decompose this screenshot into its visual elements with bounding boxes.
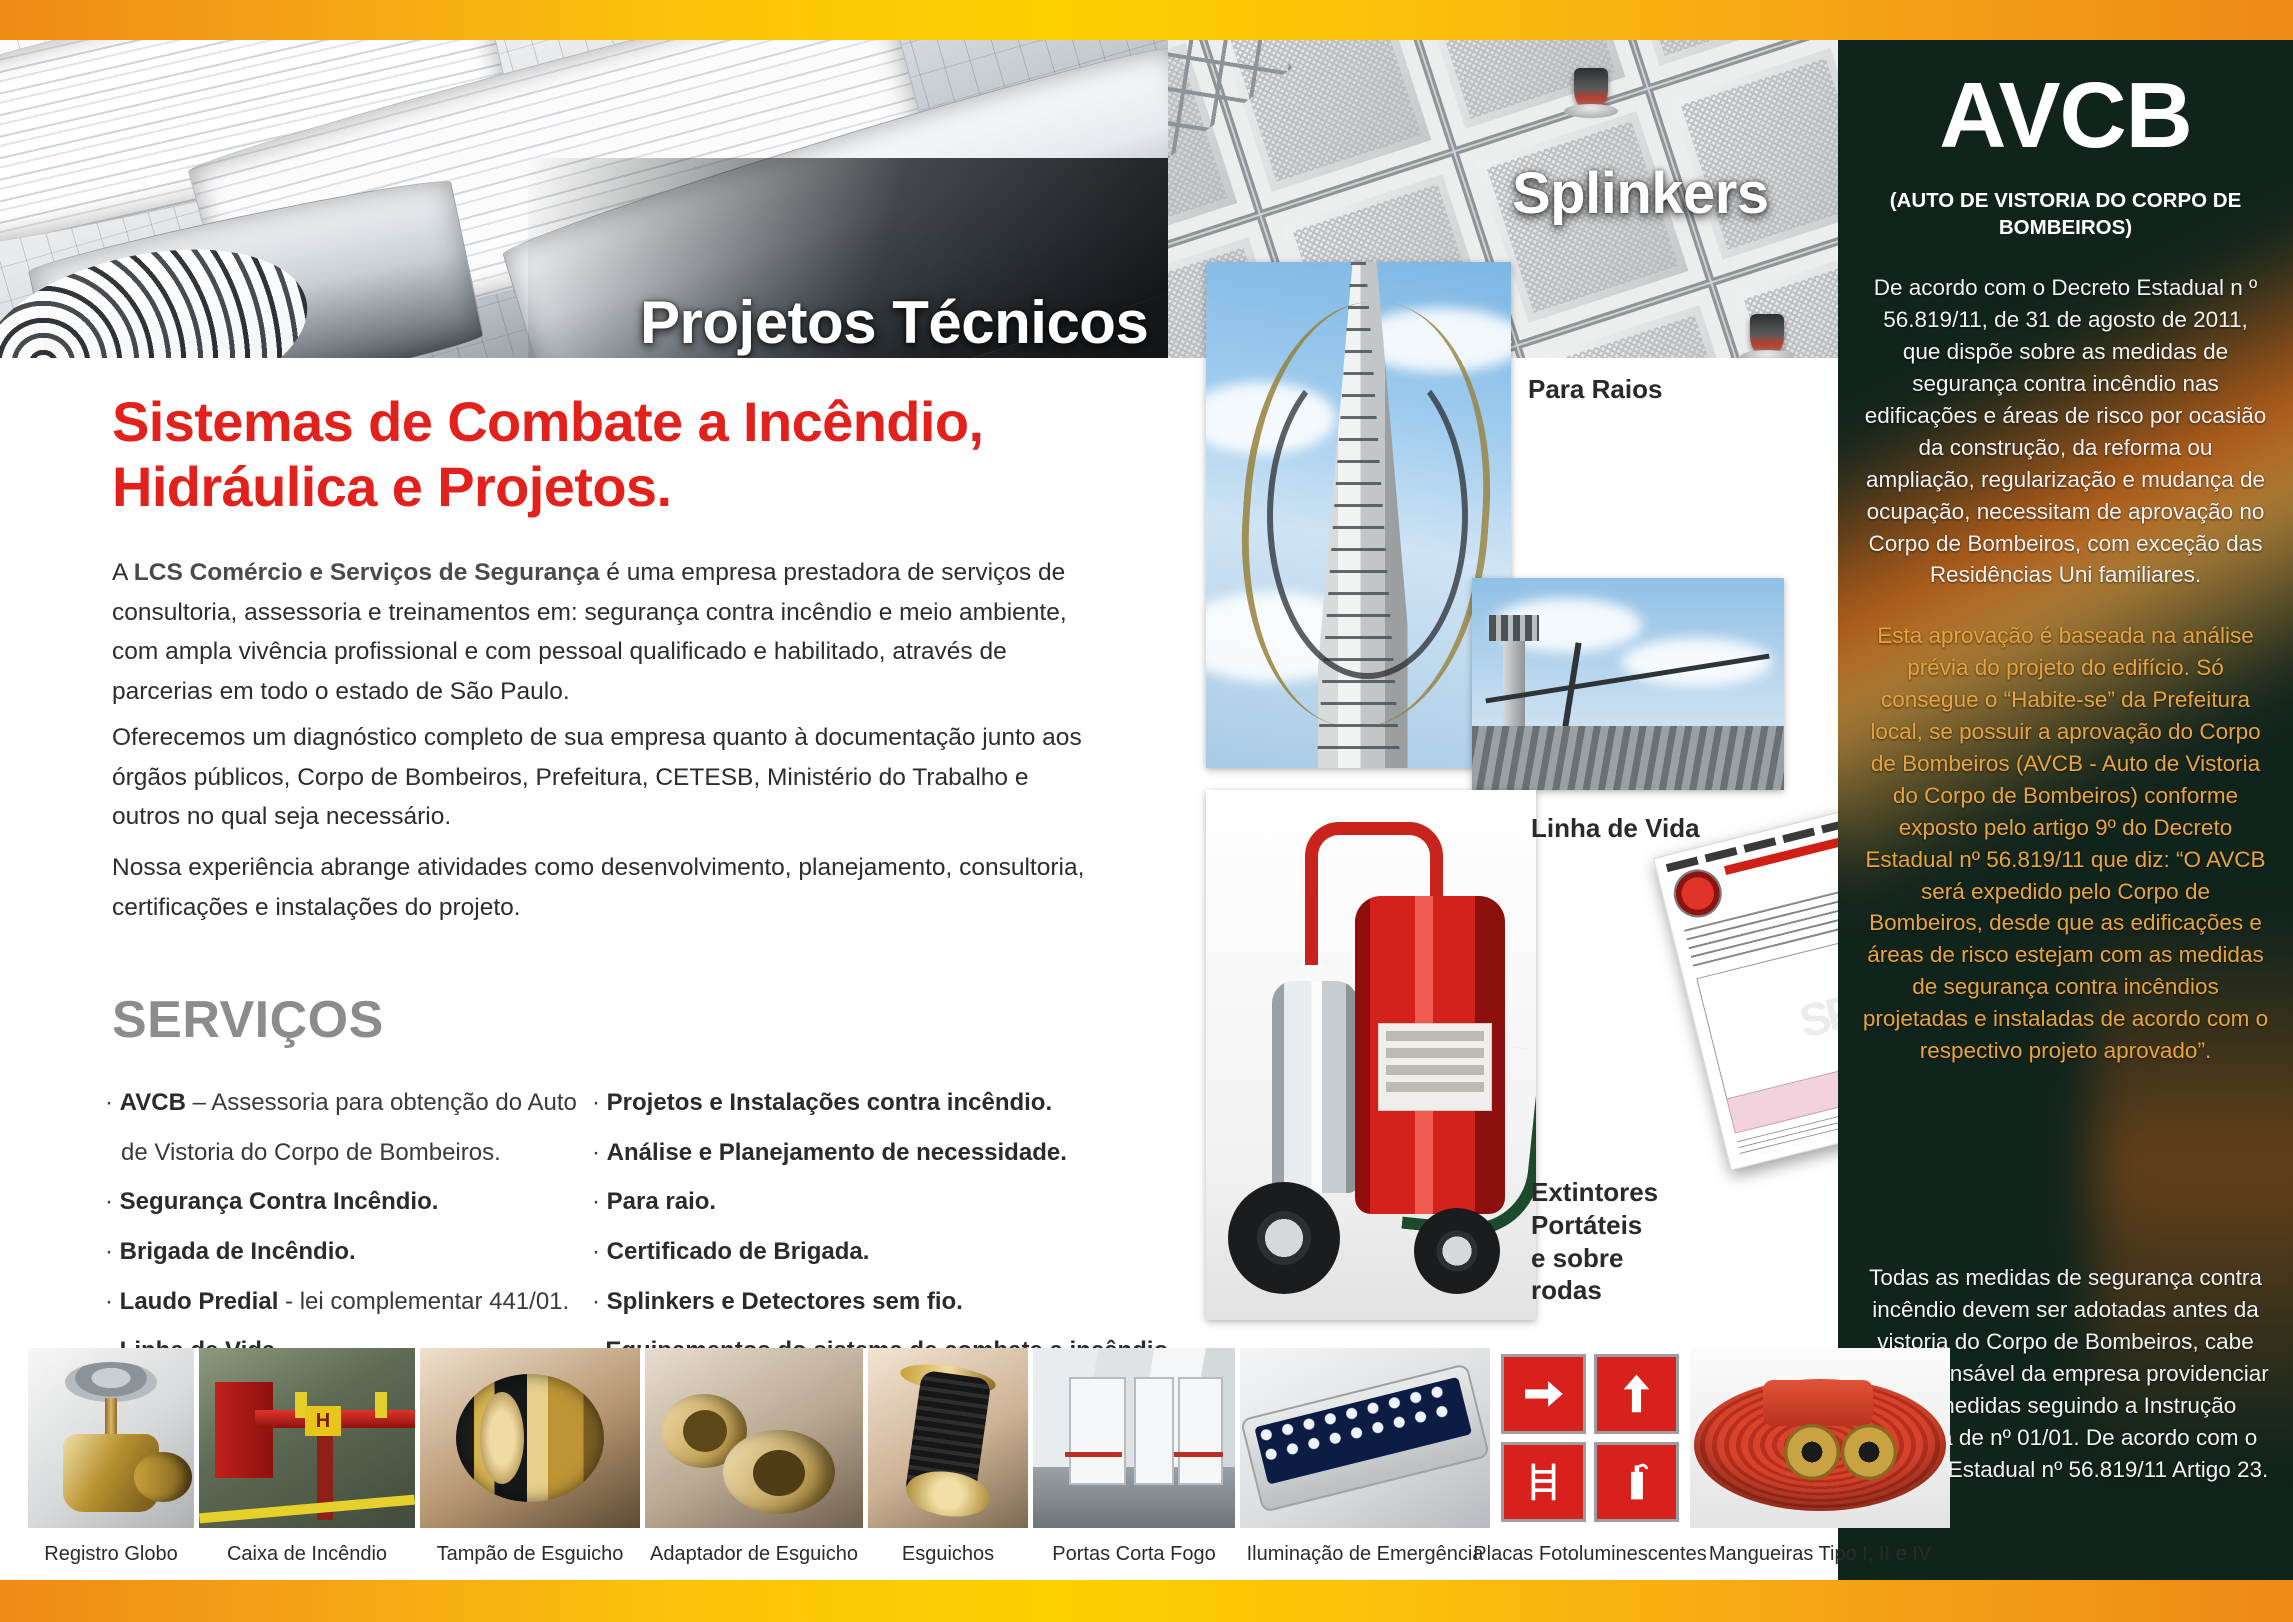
top-gradient-bar xyxy=(0,0,2293,40)
servico-bullet: · xyxy=(105,1288,120,1315)
experience-paragraph: Nossa experiência abrange atividades com… xyxy=(112,848,1102,927)
product-cell: Adaptador de Esguicho xyxy=(645,1348,863,1580)
extinguisher-wheel-icon xyxy=(1414,1208,1500,1294)
floor-marking-icon xyxy=(199,1495,415,1524)
avcb-subtitle: (AUTO DE VISTORIA DO CORPO DE BOMBEIROS) xyxy=(1872,188,2259,241)
servico-label: Projetos e Instalações contra incêndio. xyxy=(607,1089,1052,1116)
nozzle-cap-icon xyxy=(456,1374,604,1502)
servico-bullet: · xyxy=(105,1238,120,1265)
caption-para-raios: Para Raios xyxy=(1528,373,1662,406)
servico-label: Segurança Contra Incêndio. xyxy=(120,1188,439,1215)
product-caption: Tampão de Esguicho xyxy=(420,1528,640,1580)
product-cell: Tampão de Esguicho xyxy=(420,1348,640,1580)
servico-bullet: · xyxy=(105,1188,120,1215)
adapter-ring-icon xyxy=(723,1430,835,1514)
banner-title-splinkers: Splinkers xyxy=(1512,160,1769,227)
roof-icon xyxy=(1472,726,1784,790)
servico-label: Splinkers e Detectores sem fio. xyxy=(607,1288,963,1315)
caption-extintores: Extintores Portáteis e sobre rodas xyxy=(1531,1176,1658,1307)
product-cell: Mangueiras Tipo I, II e IV xyxy=(1690,1348,1950,1580)
caption-linha-de-vida: Linha de Vida xyxy=(1531,812,1700,845)
lightning-arrester-photo xyxy=(1472,578,1784,790)
tower-cable-icon xyxy=(1267,353,1468,679)
lightning-tower-photo xyxy=(1206,262,1511,768)
hydrant-cabinet-icon xyxy=(215,1382,273,1478)
product-caption: Iluminação de Emergência xyxy=(1240,1528,1490,1580)
valve-handwheel-icon xyxy=(65,1362,157,1402)
servicos-list-left: · AVCB – Assessoria para obtenção do Aut… xyxy=(105,1078,665,1376)
product-image xyxy=(28,1348,194,1528)
servico-label: Certificado de Brigada. xyxy=(607,1238,870,1265)
sprinkler-head-icon xyxy=(1750,314,1784,358)
servico-item: · Para raio. xyxy=(592,1177,1192,1227)
servico-item: · Splinkers e Detectores sem fio. xyxy=(592,1277,1192,1327)
servico-item: · Laudo Predial - lei complementar 441/0… xyxy=(105,1277,665,1327)
product-cell: Esguichos xyxy=(868,1348,1028,1580)
nozzle-tip-icon xyxy=(903,1466,992,1521)
fire-hose-fold-icon xyxy=(1763,1380,1873,1426)
product-cell: Iluminação de Emergência xyxy=(1240,1348,1490,1580)
sprinkler-head-icon xyxy=(1574,68,1608,112)
intro-paragraph: A LCS Comércio e Serviços de Segurança é… xyxy=(112,553,1102,712)
servico-bullet: · xyxy=(105,1089,120,1116)
exit-arrow-right-sign-icon xyxy=(1501,1354,1586,1434)
services-paragraph: Oferecemos um diagnóstico completo de su… xyxy=(112,718,1102,837)
product-image xyxy=(1495,1348,1685,1528)
hose-coupling-icon xyxy=(1784,1424,1840,1480)
servico-label: Para raio. xyxy=(607,1188,716,1215)
servicos-list-right: · Projetos e Instalações contra incêndio… xyxy=(592,1078,1192,1376)
product-caption: Mangueiras Tipo I, II e IV xyxy=(1690,1528,1950,1580)
product-image xyxy=(868,1348,1028,1528)
product-image xyxy=(1690,1348,1950,1528)
extinguisher-wheel-icon xyxy=(1228,1182,1340,1294)
avcb-paragraph-1: De acordo com o Decreto Estadual n º 56.… xyxy=(1862,272,2269,591)
product-cell: HCaixa de Incêndio xyxy=(199,1348,415,1580)
servico-item: · Projetos e Instalações contra incêndio… xyxy=(592,1078,1192,1128)
product-image xyxy=(420,1348,640,1528)
product-image xyxy=(1033,1348,1235,1528)
product-caption: Caixa de Incêndio xyxy=(199,1528,415,1580)
fire-door-icon xyxy=(1069,1377,1126,1485)
avcb-paragraph-2: Esta aprovação é baseada na análise prév… xyxy=(1862,620,2269,1067)
product-image xyxy=(645,1348,863,1528)
servico-item: · Brigada de Incêndio. xyxy=(105,1227,665,1277)
product-caption: Placas Fotoluminescentes xyxy=(1495,1528,1685,1580)
servico-label: Laudo Predial xyxy=(120,1288,279,1315)
servico-item: · AVCB – Assessoria para obtenção do Aut… xyxy=(105,1078,665,1177)
hydrant-h-sign-icon: H xyxy=(305,1406,341,1436)
valve-stem-icon xyxy=(105,1398,117,1438)
servico-bullet: · xyxy=(592,1238,607,1265)
hose-coupling-icon xyxy=(1841,1424,1897,1480)
fire-ladder-sign-icon xyxy=(1501,1442,1586,1522)
product-strip-row: Registro GloboHCaixa de IncêndioTampão d… xyxy=(28,1348,1818,1580)
company-name: LCS Comércio e Serviços de Segurança xyxy=(134,559,600,586)
avcb-title: AVCB xyxy=(1838,62,2293,169)
servico-detail: - lei complementar 441/01. xyxy=(278,1288,569,1315)
servicos-heading: SERVIÇOS xyxy=(112,990,384,1050)
page-title-line2: Hidráulica e Projetos. xyxy=(112,455,1142,520)
bottom-gradient-bar xyxy=(0,1580,2293,1622)
page-title: Sistemas de Combate a Incêndio, Hidráuli… xyxy=(112,390,1142,520)
servicos-ul-right: · Projetos e Instalações contra incêndio… xyxy=(592,1078,1192,1376)
servico-continuation: de Vistoria do Corpo de Bombeiros. xyxy=(105,1128,665,1178)
servico-label: AVCB xyxy=(120,1089,186,1116)
servico-bullet: · xyxy=(592,1288,607,1315)
product-image xyxy=(1240,1348,1490,1528)
valve-outlet-icon xyxy=(134,1452,192,1502)
fire-department-crest-icon xyxy=(1671,867,1724,920)
servico-bullet: · xyxy=(592,1188,607,1215)
product-caption: Portas Corta Fogo xyxy=(1033,1528,1235,1580)
servicos-ul-left: · AVCB – Assessoria para obtenção do Aut… xyxy=(105,1078,665,1376)
gas-cylinder-icon xyxy=(1272,981,1358,1193)
flyer-page: Projetos Técnicos Splinkers Sistemas de … xyxy=(0,0,2293,1622)
servico-item: · Análise e Planejamento de necessidade. xyxy=(592,1128,1192,1178)
product-caption: Registro Globo xyxy=(28,1528,194,1580)
product-strip: Registro GloboHCaixa de IncêndioTampão d… xyxy=(0,1348,1838,1580)
extinguisher-photo xyxy=(1206,790,1536,1320)
servico-bullet: · xyxy=(592,1139,607,1166)
fire-door-icon xyxy=(1178,1377,1222,1485)
servico-detail: – Assessoria para obtenção do Auto xyxy=(186,1089,577,1116)
servico-item: · Segurança Contra Incêndio. xyxy=(105,1177,665,1227)
exit-arrow-up-sign-icon xyxy=(1594,1354,1679,1434)
servico-bullet: · xyxy=(592,1089,607,1116)
product-cell: Registro Globo xyxy=(28,1348,194,1580)
product-image: H xyxy=(199,1348,415,1528)
product-cell: Portas Corta Fogo xyxy=(1033,1348,1235,1580)
page-title-line1: Sistemas de Combate a Incêndio, xyxy=(112,390,1142,455)
servico-item: · Certificado de Brigada. xyxy=(592,1227,1192,1277)
product-caption: Esguichos xyxy=(868,1528,1028,1580)
intro-lead: A xyxy=(112,559,134,586)
fire-extinguisher-sign-icon xyxy=(1594,1442,1679,1522)
product-caption: Adaptador de Esguicho xyxy=(645,1528,863,1580)
fire-door-icon xyxy=(1134,1377,1174,1485)
banner-title-projetos-tecnicos: Projetos Técnicos xyxy=(640,288,1148,357)
product-cell: Placas Fotoluminescentes xyxy=(1495,1348,1685,1580)
emergency-light-icon xyxy=(1240,1363,1490,1513)
servico-label: Brigada de Incêndio. xyxy=(120,1238,356,1265)
servico-label: Análise e Planejamento de necessidade. xyxy=(607,1139,1067,1166)
